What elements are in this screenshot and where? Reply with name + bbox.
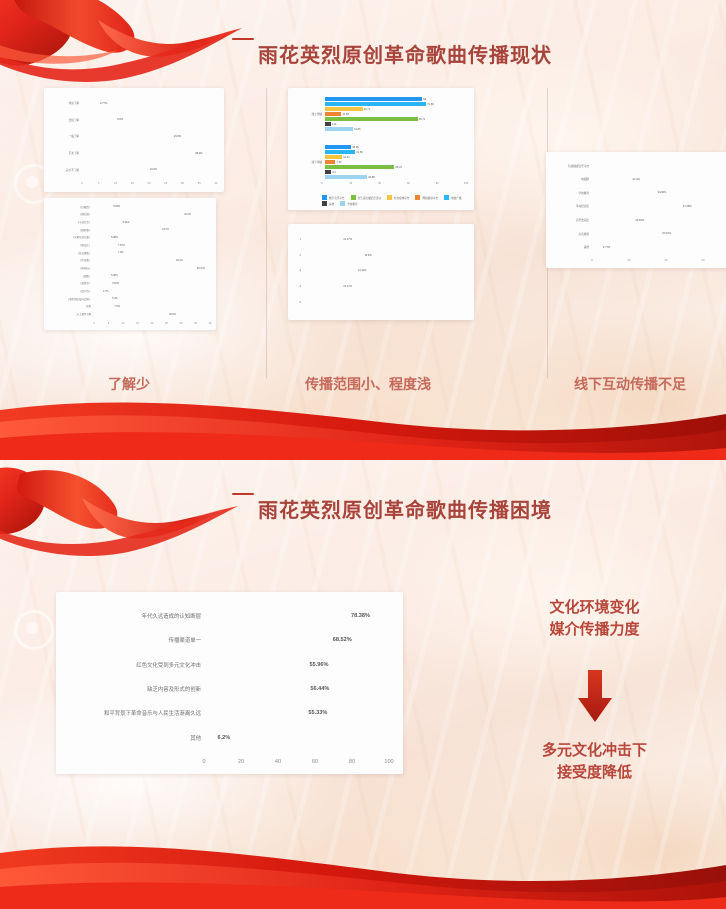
bar-label: 传播渠道单一: [66, 636, 204, 644]
chart-offline-channels: 短视频或音乐平台 78% 电视剧 21.3%: [546, 152, 726, 268]
bar-value: 38.9%: [193, 152, 202, 155]
legend-item[interactable]: 电视广播: [444, 195, 461, 200]
bar-label: 《十送红军》: [50, 220, 94, 224]
bar-row: 《囚歌》 5.08%: [50, 274, 210, 277]
legend-swatch-icon: [444, 195, 449, 200]
chart-dissemination-difficulties: 年代久远造成的认知断层 78.38% 传播渠道单一 68.52%: [56, 592, 403, 774]
bar-label: 2: [296, 254, 304, 257]
bar-row: 29.88: [325, 175, 466, 179]
bar-value: 18.65: [351, 146, 359, 149]
bar-value: 21.56: [355, 151, 363, 154]
legend-label: 文艺演出或纪念活动: [358, 196, 381, 200]
bar-value: 37.04%: [660, 232, 671, 235]
bar-row: 《望星空》 5.64%: [50, 282, 210, 285]
title-accent-dash: [232, 38, 254, 40]
legend-label: 社交媒体平台: [394, 196, 410, 200]
axis-tick: 30: [180, 322, 183, 325]
bar-row: 电视剧 21.3%: [552, 177, 726, 182]
bar-value: 36.47%: [195, 267, 205, 270]
presentation-deck: 雨花英烈原创革命歌曲传播现状 非常了解 4.77% 比较了解: [0, 0, 726, 909]
table-row: 其他 6.2%: [66, 732, 389, 743]
table-row: 传播渠道单一 68.52%: [66, 635, 389, 646]
caption-column-1: 了解少: [108, 374, 150, 394]
group-bars: 18.65 21.56 12.21 7.49: [325, 142, 466, 182]
bar-label: 红色旅游: [552, 232, 592, 236]
bar-track: 7.87%: [94, 244, 210, 247]
bar-fill: [325, 107, 363, 111]
bar-value: 19.6%: [148, 168, 157, 171]
legend-swatch-icon: [415, 195, 420, 200]
bar-label: 革命纪念馆: [552, 204, 592, 208]
bar-track: 28.1%: [94, 259, 210, 262]
bar-row: 19.86: [325, 127, 466, 131]
bar-value: 9.9%: [115, 118, 123, 121]
bar-rows: 1 10.17% 2 15.9% 3: [296, 232, 466, 310]
bar-value: 6.2%: [215, 735, 230, 741]
axis-tick: 0: [202, 759, 205, 765]
bar-row: 11.68: [325, 112, 466, 116]
bar-row: 比较了解 9.9%: [52, 117, 216, 123]
bar-value: 49.24: [394, 166, 402, 169]
bar-row: 《义勇军进行曲》 5.08%: [50, 236, 210, 239]
bar-track: 37.04%: [592, 232, 726, 235]
bar-fill: [325, 150, 355, 154]
bar-track: 5.08%: [94, 274, 210, 277]
legend-swatch-icon: [340, 201, 345, 206]
bar-value: 26.8%: [172, 135, 181, 138]
bar-track: 22.7%: [94, 228, 210, 231]
bar-label: 《红梅赞》: [50, 205, 94, 209]
axis-tick: 35: [194, 322, 197, 325]
axis-tick: 40: [275, 759, 281, 765]
bar-track: 6.2%: [204, 735, 389, 741]
bar-value: 5.08%: [109, 274, 118, 277]
bar-value: 43.17%: [448, 302, 459, 305]
bar-row: 5 43.17%: [296, 299, 466, 306]
bar-value: 56.44%: [308, 686, 329, 692]
page-title: 雨花英烈原创革命歌曲传播困境: [258, 494, 552, 523]
bar-track: 78.38%: [204, 613, 389, 619]
legend-label: 学校教育: [347, 202, 357, 206]
bar-label: 年代久远造成的认知断层: [66, 612, 204, 620]
bar-label: 《我们的队伍向太阳》: [50, 297, 94, 301]
bar-track: 32.0%: [94, 213, 210, 216]
axis-tick: 10: [114, 182, 117, 185]
bar-value: 55.96%: [308, 662, 329, 668]
bar-row: 《映山红》 7.87%: [50, 243, 210, 246]
page-title: 雨花英烈原创革命歌曲传播现状: [258, 39, 552, 68]
chart-card-channel-grouped[interactable]: 线上传播 69 71.86 26.71: [288, 88, 474, 210]
bar-track: 26.8%: [82, 135, 216, 138]
bar-value: 1.7%: [101, 290, 108, 293]
bar-track: 19.6%: [82, 168, 216, 171]
bar-row: 《雨花石》 36.47%: [50, 266, 210, 269]
chart-card-song-recognition[interactable]: 《红梅赞》 5.84% 《绣红旗》 32.0%: [44, 198, 216, 330]
bar-value: 4.77%: [601, 246, 610, 249]
bar-track: 4.77%: [82, 102, 216, 105]
table-row: 缺乏内容及形式的创新 56.44%: [66, 684, 389, 695]
axis-tick: 15: [136, 322, 139, 325]
text-line-1: 文化环境变化: [487, 597, 702, 619]
bar-row: 其他 7.5%: [50, 305, 210, 308]
bar-track: 55.33%: [204, 710, 389, 716]
x-axis: 0 20 40 60 80 100: [204, 759, 389, 768]
legend-label: 数字音乐平台: [329, 196, 345, 200]
bar-row: 红色旅游 37.04%: [552, 231, 726, 236]
bar-label: 《长征组歌》: [50, 251, 94, 255]
axis-tick: 0: [93, 322, 94, 325]
bar-label: 学校教育: [552, 191, 592, 195]
bar-row: 2 15.9%: [296, 252, 466, 259]
bar-fill: [325, 97, 422, 101]
bar-value: 4.11: [331, 123, 337, 126]
axis-tick: 5: [108, 322, 109, 325]
bar-fill: [325, 165, 394, 169]
bar-value: 5.64%: [110, 282, 119, 285]
text-line-2: 接受度降低: [487, 762, 702, 784]
slide-dissemination-difficulties: 雨花英烈原创革命歌曲传播困境 年代久远造成的认知断层 78.38% 传播渠道单一: [0, 460, 726, 909]
text-acceptance-decline: 多元文化冲击下 接受度降低: [487, 740, 702, 784]
table-row: 和平背景下革命音乐与人民生活渐离久远 55.33%: [66, 708, 389, 719]
caption-column-2: 传播范围小、程度浅: [305, 374, 431, 394]
axis-tick: 20: [628, 259, 631, 262]
chart-card-dissemination-difficulties[interactable]: 年代久远造成的认知断层 78.38% 传播渠道单一 68.52%: [56, 592, 403, 774]
legend-item[interactable]: 数字音乐平台: [322, 195, 345, 200]
bar-track: 1.7%: [94, 290, 210, 293]
bar-value: 7.9%: [116, 251, 123, 254]
group-label: 线下传播: [296, 160, 325, 164]
legend-item[interactable]: 学校教育: [340, 201, 357, 206]
bar-row: 《国际歌》 22.7%: [50, 228, 210, 231]
bar-fill: [325, 155, 342, 159]
bar-row: 《毕业歌》 28.1%: [50, 259, 210, 262]
bar-value: 7.49: [335, 161, 341, 164]
bar-row: 7.49: [325, 160, 466, 164]
bar-label: 缺乏内容及形式的创新: [66, 685, 204, 693]
bar-track: 56.44%: [204, 686, 389, 692]
bar-value: 78.38%: [349, 613, 370, 619]
legend-swatch-icon: [322, 195, 327, 200]
bar-value: 5.08%: [109, 236, 118, 239]
bar-value: 8.94%: [121, 221, 130, 224]
bar-row: 12.21: [325, 155, 466, 159]
group-label: 线上传播: [296, 112, 325, 116]
bar-group: 线下传播 18.65 21.56 12.21: [296, 142, 466, 182]
bar-row: 革命纪念馆 47.68%: [552, 204, 726, 209]
bar-track: 34.66%: [592, 191, 726, 194]
axis-tick: 20: [151, 322, 154, 325]
bar-value: 32.0%: [182, 213, 191, 216]
bar-value: 28.1%: [174, 259, 183, 262]
axis-tick: 20: [148, 182, 151, 185]
bar-track: 9.9%: [82, 118, 216, 121]
bar-label: 红色文化受到多元文化冲击: [66, 661, 204, 669]
axis-tick: 80: [349, 759, 355, 765]
bar-value: 65.71: [418, 118, 426, 121]
bar-track: 78%: [592, 164, 726, 167]
group-bars: 69 71.86 26.71 11.68: [325, 94, 466, 134]
legend-swatch-icon: [322, 201, 327, 206]
bar-row: 短视频或音乐平台 78%: [552, 163, 726, 168]
bar-track: 22.84%: [592, 219, 726, 222]
bar-row: 21.56: [325, 150, 466, 154]
bar-label: 电视剧: [552, 177, 592, 181]
bar-label: 比较了解: [52, 118, 82, 122]
bar-label: 《绣红旗》: [50, 212, 94, 216]
bar-track: 7.9%: [94, 251, 210, 254]
slide-current-status: 雨花英烈原创革命歌曲传播现状 非常了解 4.77% 比较了解: [0, 0, 726, 460]
bar-rows: 非常了解 4.77% 比较了解 9.9%: [52, 95, 216, 178]
axis-tick: 40: [378, 182, 381, 185]
bar-rows: 年代久远造成的认知断层 78.38% 传播渠道单一 68.52%: [66, 604, 389, 750]
bar-label: 非常了解: [52, 101, 82, 105]
bar-row: 65.71: [325, 117, 466, 121]
bar-row: 49.24: [325, 165, 466, 169]
bar-value: 5.84%: [111, 205, 120, 208]
bar-track: 38.9%: [82, 152, 216, 155]
bar-value: 11.68: [341, 113, 348, 116]
bar-value: 55.33%: [306, 710, 327, 716]
legend-item[interactable]: 社交媒体平台: [387, 195, 410, 200]
bar-label: 《国际歌》: [50, 228, 94, 232]
chart-card-engagement-depth[interactable]: 1 10.17% 2 15.9% 3: [288, 224, 474, 320]
bar-row: 完全不了解 19.6%: [52, 167, 216, 173]
legend-label: 其他: [329, 202, 334, 206]
chart-card-awareness-level[interactable]: 非常了解 4.77% 比较了解 9.9%: [44, 88, 224, 192]
bar-label: 4: [296, 285, 304, 288]
bar-row: 音乐会演出 22.84%: [552, 218, 726, 223]
axis-tick: 100: [384, 759, 393, 765]
legend-swatch-icon: [387, 195, 392, 200]
bar-row: 26.71: [325, 107, 466, 111]
bar-value: 26.0%: [167, 313, 176, 316]
bar-row: 69: [325, 97, 466, 101]
legend-item[interactable]: 网络视频平台: [415, 195, 438, 200]
bar-fill: [325, 127, 353, 131]
bar-track: 21.3%: [592, 178, 726, 181]
bar-rows: 短视频或音乐平台 78% 电视剧 21.3%: [552, 159, 726, 254]
bar-row: 4 10.17%: [296, 283, 466, 290]
axis-tick: 10: [122, 322, 125, 325]
bar-row: 《我们的队伍向太阳》 5.4%: [50, 297, 210, 300]
bar-row: 以上都不了解 26.0%: [50, 312, 210, 315]
bar-row: 一般了解 26.8%: [52, 133, 216, 139]
bar-label: 《就义诗》: [50, 289, 94, 293]
bar-label: 3: [296, 269, 304, 272]
chart-song-recognition: 《红梅赞》 5.84% 《绣红旗》 32.0%: [44, 198, 216, 330]
legend-item[interactable]: 其他: [322, 201, 334, 206]
x-axis: 0 5 10 15 20 25 30 35 40: [94, 322, 210, 328]
bar-value: 22.7%: [160, 228, 169, 231]
bar-label: 其他: [552, 245, 592, 249]
legend-item[interactable]: 文艺演出或纪念活动: [351, 195, 381, 200]
bar-label: 5: [296, 301, 304, 304]
bar-row: 18.65: [325, 145, 466, 149]
bar-track: 14.11%: [304, 269, 466, 272]
bar-label: 《囚歌》: [50, 274, 94, 278]
bar-fill: [325, 145, 351, 149]
bar-value: 15.9%: [362, 254, 371, 257]
bar-track: 4.77%: [592, 246, 726, 249]
bar-track: 5.08%: [94, 236, 210, 239]
axis-tick: 30: [181, 182, 184, 185]
axis-tick: 0: [321, 182, 322, 185]
bar-value: 4.3: [331, 171, 336, 174]
axis-tick: 60: [702, 259, 705, 262]
text-cultural-environment: 文化环境变化 媒介传播力度: [487, 597, 702, 641]
bar-fill: [325, 112, 341, 116]
bar-value: 68.52%: [331, 637, 352, 643]
bar-label: 《雨花石》: [50, 266, 94, 270]
axis-tick: 20: [349, 182, 352, 185]
bar-label: 不太了解: [52, 151, 82, 155]
bar-track: 10.17%: [304, 285, 466, 288]
bar-label: 《毕业歌》: [50, 258, 94, 262]
bar-row: 《十送红军》 8.94%: [50, 220, 210, 223]
bar-value: 47.68%: [681, 205, 692, 208]
bar-fill: [325, 160, 335, 164]
axis-tick: 25: [164, 182, 167, 185]
bar-rows: 《红梅赞》 5.84% 《绣红旗》 32.0%: [50, 203, 210, 318]
axis-tick: 40: [215, 182, 218, 185]
bar-track: 5.4%: [94, 297, 210, 300]
chart-engagement-depth: 1 10.17% 2 15.9% 3: [288, 224, 474, 320]
bar-row: 不太了解 38.9%: [52, 150, 216, 156]
axis-tick: 5: [98, 182, 99, 185]
bar-value: 22.84%: [633, 219, 644, 222]
bar-value: 5.4%: [110, 297, 117, 300]
bar-track: 26.0%: [94, 313, 210, 316]
bar-value: 14.11%: [356, 269, 367, 272]
chart-legend: 数字音乐平台 文艺演出或纪念活动 社交媒体平台 网络视频平台: [322, 195, 468, 207]
axis-tick: 80: [436, 182, 439, 185]
x-axis: 0 20 40 60 80 100: [322, 182, 466, 188]
bar-track: 5.84%: [94, 205, 210, 208]
axis-tick: 100: [464, 182, 468, 185]
column-divider-1: [266, 88, 267, 378]
bar-row: 《红梅赞》 5.84%: [50, 205, 210, 208]
table-row: 年代久远造成的认知断层 78.38%: [66, 611, 389, 622]
axis-tick: 40: [209, 322, 212, 325]
bar-label: 音乐会演出: [552, 218, 592, 222]
axis-tick: 0: [81, 182, 82, 185]
bar-track: 15.9%: [304, 254, 466, 257]
axis-tick: 60: [312, 759, 318, 765]
text-line-1: 多元文化冲击下: [487, 740, 702, 762]
bar-track: 36.47%: [94, 267, 210, 270]
axis-tick: 25: [165, 322, 168, 325]
bar-row: 非常了解 4.77%: [52, 100, 216, 106]
watermark-logo: [14, 610, 54, 650]
bar-label: 其他: [66, 734, 204, 742]
title-accent-dash: [232, 493, 254, 495]
bar-value: 26.71: [363, 108, 371, 111]
x-axis: 0 20 40 60 80: [592, 259, 726, 265]
bar-fill: [325, 175, 367, 179]
bar-row: 71.86: [325, 102, 466, 106]
bar-row: 3 14.11%: [296, 267, 466, 274]
chart-card-offline-channels[interactable]: 短视频或音乐平台 78% 电视剧 21.3%: [546, 152, 726, 268]
bar-value: 29.88: [367, 176, 375, 179]
bar-row: 4.11: [325, 122, 466, 126]
bar-track: 7.5%: [94, 305, 210, 308]
text-line-2: 媒介传播力度: [487, 619, 702, 641]
chart-channel-grouped: 线上传播 69 71.86 26.71: [288, 88, 474, 210]
bar-label: 1: [296, 238, 304, 241]
legend-label: 网络视频平台: [422, 196, 438, 200]
bar-value: 7.5%: [113, 305, 120, 308]
bar-value: 7.87%: [116, 244, 125, 247]
bar-track: 47.68%: [592, 205, 726, 208]
bar-value: 10.17%: [341, 238, 352, 241]
bar-row: 《就义诗》 1.7%: [50, 289, 210, 292]
bar-track: 55.96%: [204, 662, 389, 668]
down-arrow-icon: [578, 670, 612, 722]
bar-row: 4.3: [325, 170, 466, 174]
bar-value: 34.66%: [656, 191, 667, 194]
bar-label: 《义勇军进行曲》: [50, 235, 94, 239]
bar-label: 《映山红》: [50, 243, 94, 247]
bar-value: 21.3%: [630, 178, 639, 181]
axis-tick: 15: [131, 182, 134, 185]
bar-track: 8.94%: [94, 221, 210, 224]
bar-fill: [325, 117, 418, 121]
bar-value: 12.21: [342, 156, 350, 159]
legend-label: 电视广播: [451, 196, 461, 200]
bar-value: 71.86: [426, 103, 434, 106]
bar-value: 69: [422, 98, 426, 101]
bar-label: 以上都不了解: [50, 312, 94, 316]
bar-row: 《绣红旗》 32.0%: [50, 213, 210, 216]
bar-value: 4.77%: [98, 102, 107, 105]
bar-label: 一般了解: [52, 134, 82, 138]
axis-tick: 0: [591, 259, 592, 262]
bar-label: 和平背景下革命音乐与人民生活渐离久远: [66, 709, 204, 717]
bar-label: 短视频或音乐平台: [552, 164, 592, 168]
bar-value: 10.17%: [341, 285, 352, 288]
bar-group: 线上传播 69 71.86 26.71: [296, 94, 466, 134]
x-axis: 0 5 10 15 20 25 30 35 40: [82, 182, 216, 189]
bar-track: 68.52%: [204, 637, 389, 643]
axis-tick: 60: [407, 182, 410, 185]
axis-tick: 35: [198, 182, 201, 185]
bar-track: 5.64%: [94, 282, 210, 285]
bar-value: 19.86: [353, 128, 361, 131]
chart-awareness-level: 非常了解 4.77% 比较了解 9.9%: [44, 88, 224, 192]
bar-row: 其他 4.77%: [552, 245, 726, 250]
bar-row: 《长征组歌》 7.9%: [50, 251, 210, 254]
table-row: 红色文化受到多元文化冲击 55.96%: [66, 659, 389, 670]
bar-track: 10.17%: [304, 238, 466, 241]
bar-row: 学校教育 34.66%: [552, 190, 726, 195]
bar-row: 1 10.17%: [296, 236, 466, 243]
legend-swatch-icon: [351, 195, 356, 200]
bar-fill: [325, 102, 426, 106]
axis-tick: 40: [665, 259, 668, 262]
caption-column-3: 线下互动传播不足: [574, 374, 686, 394]
axis-tick: 20: [238, 759, 244, 765]
bar-label: 《望星空》: [50, 281, 94, 285]
bar-label: 其他: [50, 304, 94, 308]
bar-label: 完全不了解: [52, 168, 82, 172]
